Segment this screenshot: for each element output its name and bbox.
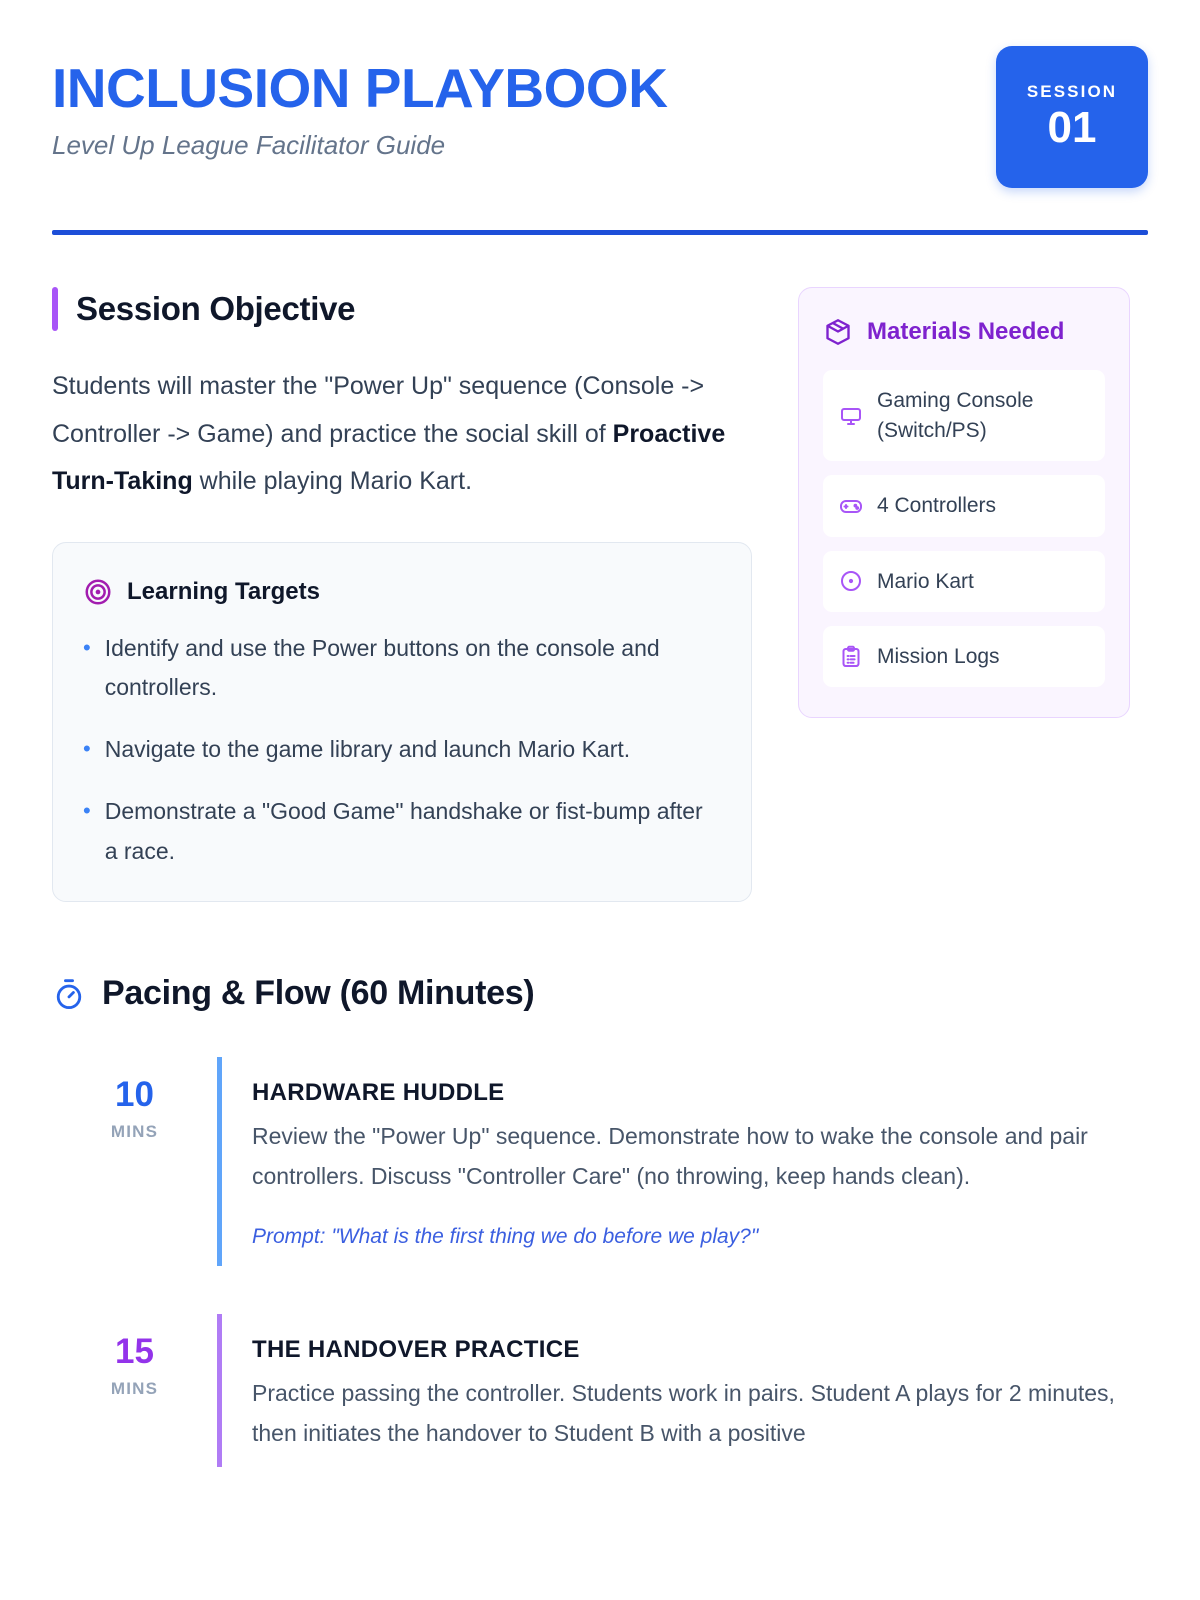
timeline-title: THE HANDOVER PRACTICE (252, 1336, 1148, 1364)
material-item-logs: Mission Logs (823, 626, 1105, 687)
list-item-label: Identify and use the Power buttons on th… (105, 629, 721, 709)
timeline-time: 10 MINS (52, 1057, 217, 1266)
timeline-minutes: 15 (52, 1334, 217, 1369)
target-icon (83, 577, 113, 607)
bullet-icon: • (83, 792, 91, 872)
gamepad-icon (839, 494, 863, 518)
bullet-icon: • (83, 730, 91, 770)
side-column: Materials Needed Gaming Console (Switch/… (798, 287, 1130, 902)
timeline-block-handover-practice: 15 MINS THE HANDOVER PRACTICE Practice p… (52, 1314, 1148, 1467)
material-item-console: Gaming Console (Switch/PS) (823, 370, 1105, 461)
material-item-game: Mario Kart (823, 551, 1105, 612)
list-item: • Navigate to the game library and launc… (83, 730, 721, 770)
timeline-content: HARDWARE HUDDLE Review the "Power Up" se… (217, 1057, 1148, 1266)
timeline-title: HARDWARE HUDDLE (252, 1079, 1148, 1107)
page-header: INCLUSION PLAYBOOK Level Up League Facil… (52, 46, 1148, 188)
materials-panel: Materials Needed Gaming Console (Switch/… (798, 287, 1130, 718)
material-item-label: 4 Controllers (877, 491, 996, 520)
content-columns: Session Objective Students will master t… (52, 287, 1148, 902)
materials-title: Materials Needed (867, 316, 1064, 348)
page-title: INCLUSION PLAYBOOK (52, 60, 667, 116)
learning-targets-title: Learning Targets (127, 578, 320, 606)
playbook-page: INCLUSION PLAYBOOK Level Up League Facil… (0, 0, 1200, 1467)
pacing-section: Pacing & Flow (60 Minutes) 10 MINS HARDW… (52, 974, 1148, 1467)
page-subtitle: Level Up League Facilitator Guide (52, 130, 667, 161)
material-item-controllers: 4 Controllers (823, 475, 1105, 536)
timeline-description: Practice passing the controller. Student… (252, 1374, 1148, 1453)
timeline-minutes: 10 (52, 1077, 217, 1112)
pacing-title: Pacing & Flow (60 Minutes) (102, 974, 534, 1013)
learning-targets-list: • Identify and use the Power buttons on … (83, 629, 721, 872)
session-objective-heading: Session Objective (52, 287, 752, 331)
session-badge-label: SESSION (1027, 82, 1117, 102)
material-item-label: Mario Kart (877, 567, 974, 596)
session-badge: SESSION 01 (996, 46, 1148, 188)
session-badge-number: 01 (1048, 104, 1097, 152)
bullet-icon: • (83, 629, 91, 709)
disc-icon (839, 569, 863, 593)
list-item-label: Navigate to the game library and launch … (105, 730, 630, 770)
objective-text-part2: while playing Mario Kart. (193, 467, 472, 495)
learning-targets-card: Learning Targets • Identify and use the … (52, 542, 752, 903)
timeline-mins-label: MINS (52, 1379, 217, 1399)
monitor-icon (839, 404, 863, 428)
objective-text-part1: Students will master the "Power Up" sequ… (52, 372, 704, 448)
timeline-mins-label: MINS (52, 1122, 217, 1142)
timeline-block-hardware-huddle: 10 MINS HARDWARE HUDDLE Review the "Powe… (52, 1057, 1148, 1266)
pacing-heading: Pacing & Flow (60 Minutes) (52, 974, 1148, 1013)
list-item: • Identify and use the Power buttons on … (83, 629, 721, 709)
list-item: • Demonstrate a "Good Game" handshake or… (83, 792, 721, 872)
timeline-description: Review the "Power Up" sequence. Demonstr… (252, 1117, 1148, 1196)
section-title: Session Objective (76, 290, 355, 328)
package-icon (823, 317, 853, 347)
main-column: Session Objective Students will master t… (52, 287, 752, 902)
timeline-content: THE HANDOVER PRACTICE Practice passing t… (217, 1314, 1148, 1467)
section-accent-bar (52, 287, 58, 331)
material-item-label: Mission Logs (877, 642, 1000, 671)
learning-targets-header: Learning Targets (83, 577, 721, 607)
header-titles: INCLUSION PLAYBOOK Level Up League Facil… (52, 46, 667, 161)
list-item-label: Demonstrate a "Good Game" handshake or f… (105, 792, 721, 872)
pacing-timeline: 10 MINS HARDWARE HUDDLE Review the "Powe… (52, 1057, 1148, 1467)
timeline-prompt: Prompt: "What is the first thing we do b… (252, 1221, 1148, 1253)
stopwatch-icon (52, 977, 86, 1011)
clipboard-icon (839, 645, 863, 669)
material-item-label: Gaming Console (Switch/PS) (877, 386, 1089, 445)
timeline-time: 15 MINS (52, 1314, 217, 1467)
header-divider (52, 230, 1148, 235)
materials-header: Materials Needed (823, 316, 1105, 348)
objective-paragraph: Students will master the "Power Up" sequ… (52, 363, 752, 506)
